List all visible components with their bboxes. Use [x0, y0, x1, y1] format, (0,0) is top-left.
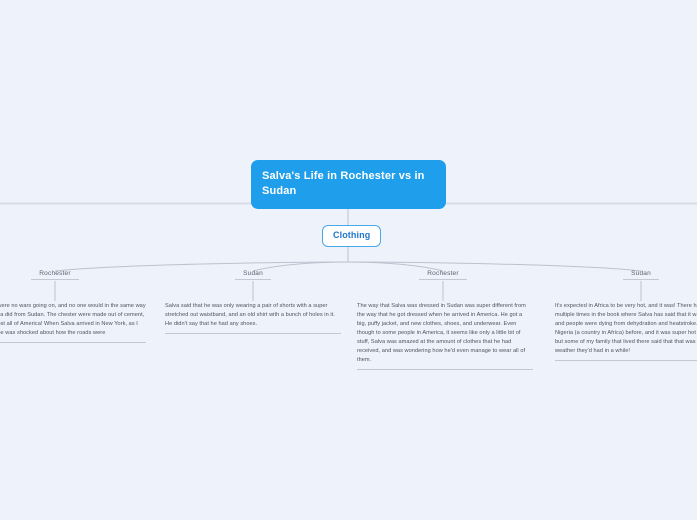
leaf-label-sudan-1[interactable]: Sudan [235, 270, 271, 280]
leaf-text-sudan-2: It's expected in Africa to be very hot, … [555, 302, 697, 361]
root-node-title: Salva's Life in Rochester vs in Sudan [262, 170, 425, 197]
leaf-label-rochester-1[interactable]: Rochester [31, 270, 79, 280]
leaf-text-rochester-1: r, there were no wars going on, and no o… [0, 302, 146, 343]
connector-lines [0, 0, 697, 520]
mindmap-canvas: Salva's Life in Rochester vs in Sudan Cl… [0, 0, 697, 520]
leaf-text-rochester-2: The way that Salva was dressed in Sudan … [357, 302, 533, 370]
branch-node-label: Clothing [333, 230, 370, 240]
leaf-label-sudan-2[interactable]: Sudan [623, 270, 659, 280]
leaf-label-rochester-2[interactable]: Rochester [419, 270, 467, 280]
edge-to-leaf-1 [55, 262, 348, 271]
edge-to-leaf-4 [348, 262, 641, 271]
root-node[interactable]: Salva's Life in Rochester vs in Sudan [251, 160, 446, 209]
leaf-text-sudan-1: Salva said that he was only wearing a pa… [165, 302, 341, 334]
branch-node-clothing[interactable]: Clothing [322, 225, 381, 247]
